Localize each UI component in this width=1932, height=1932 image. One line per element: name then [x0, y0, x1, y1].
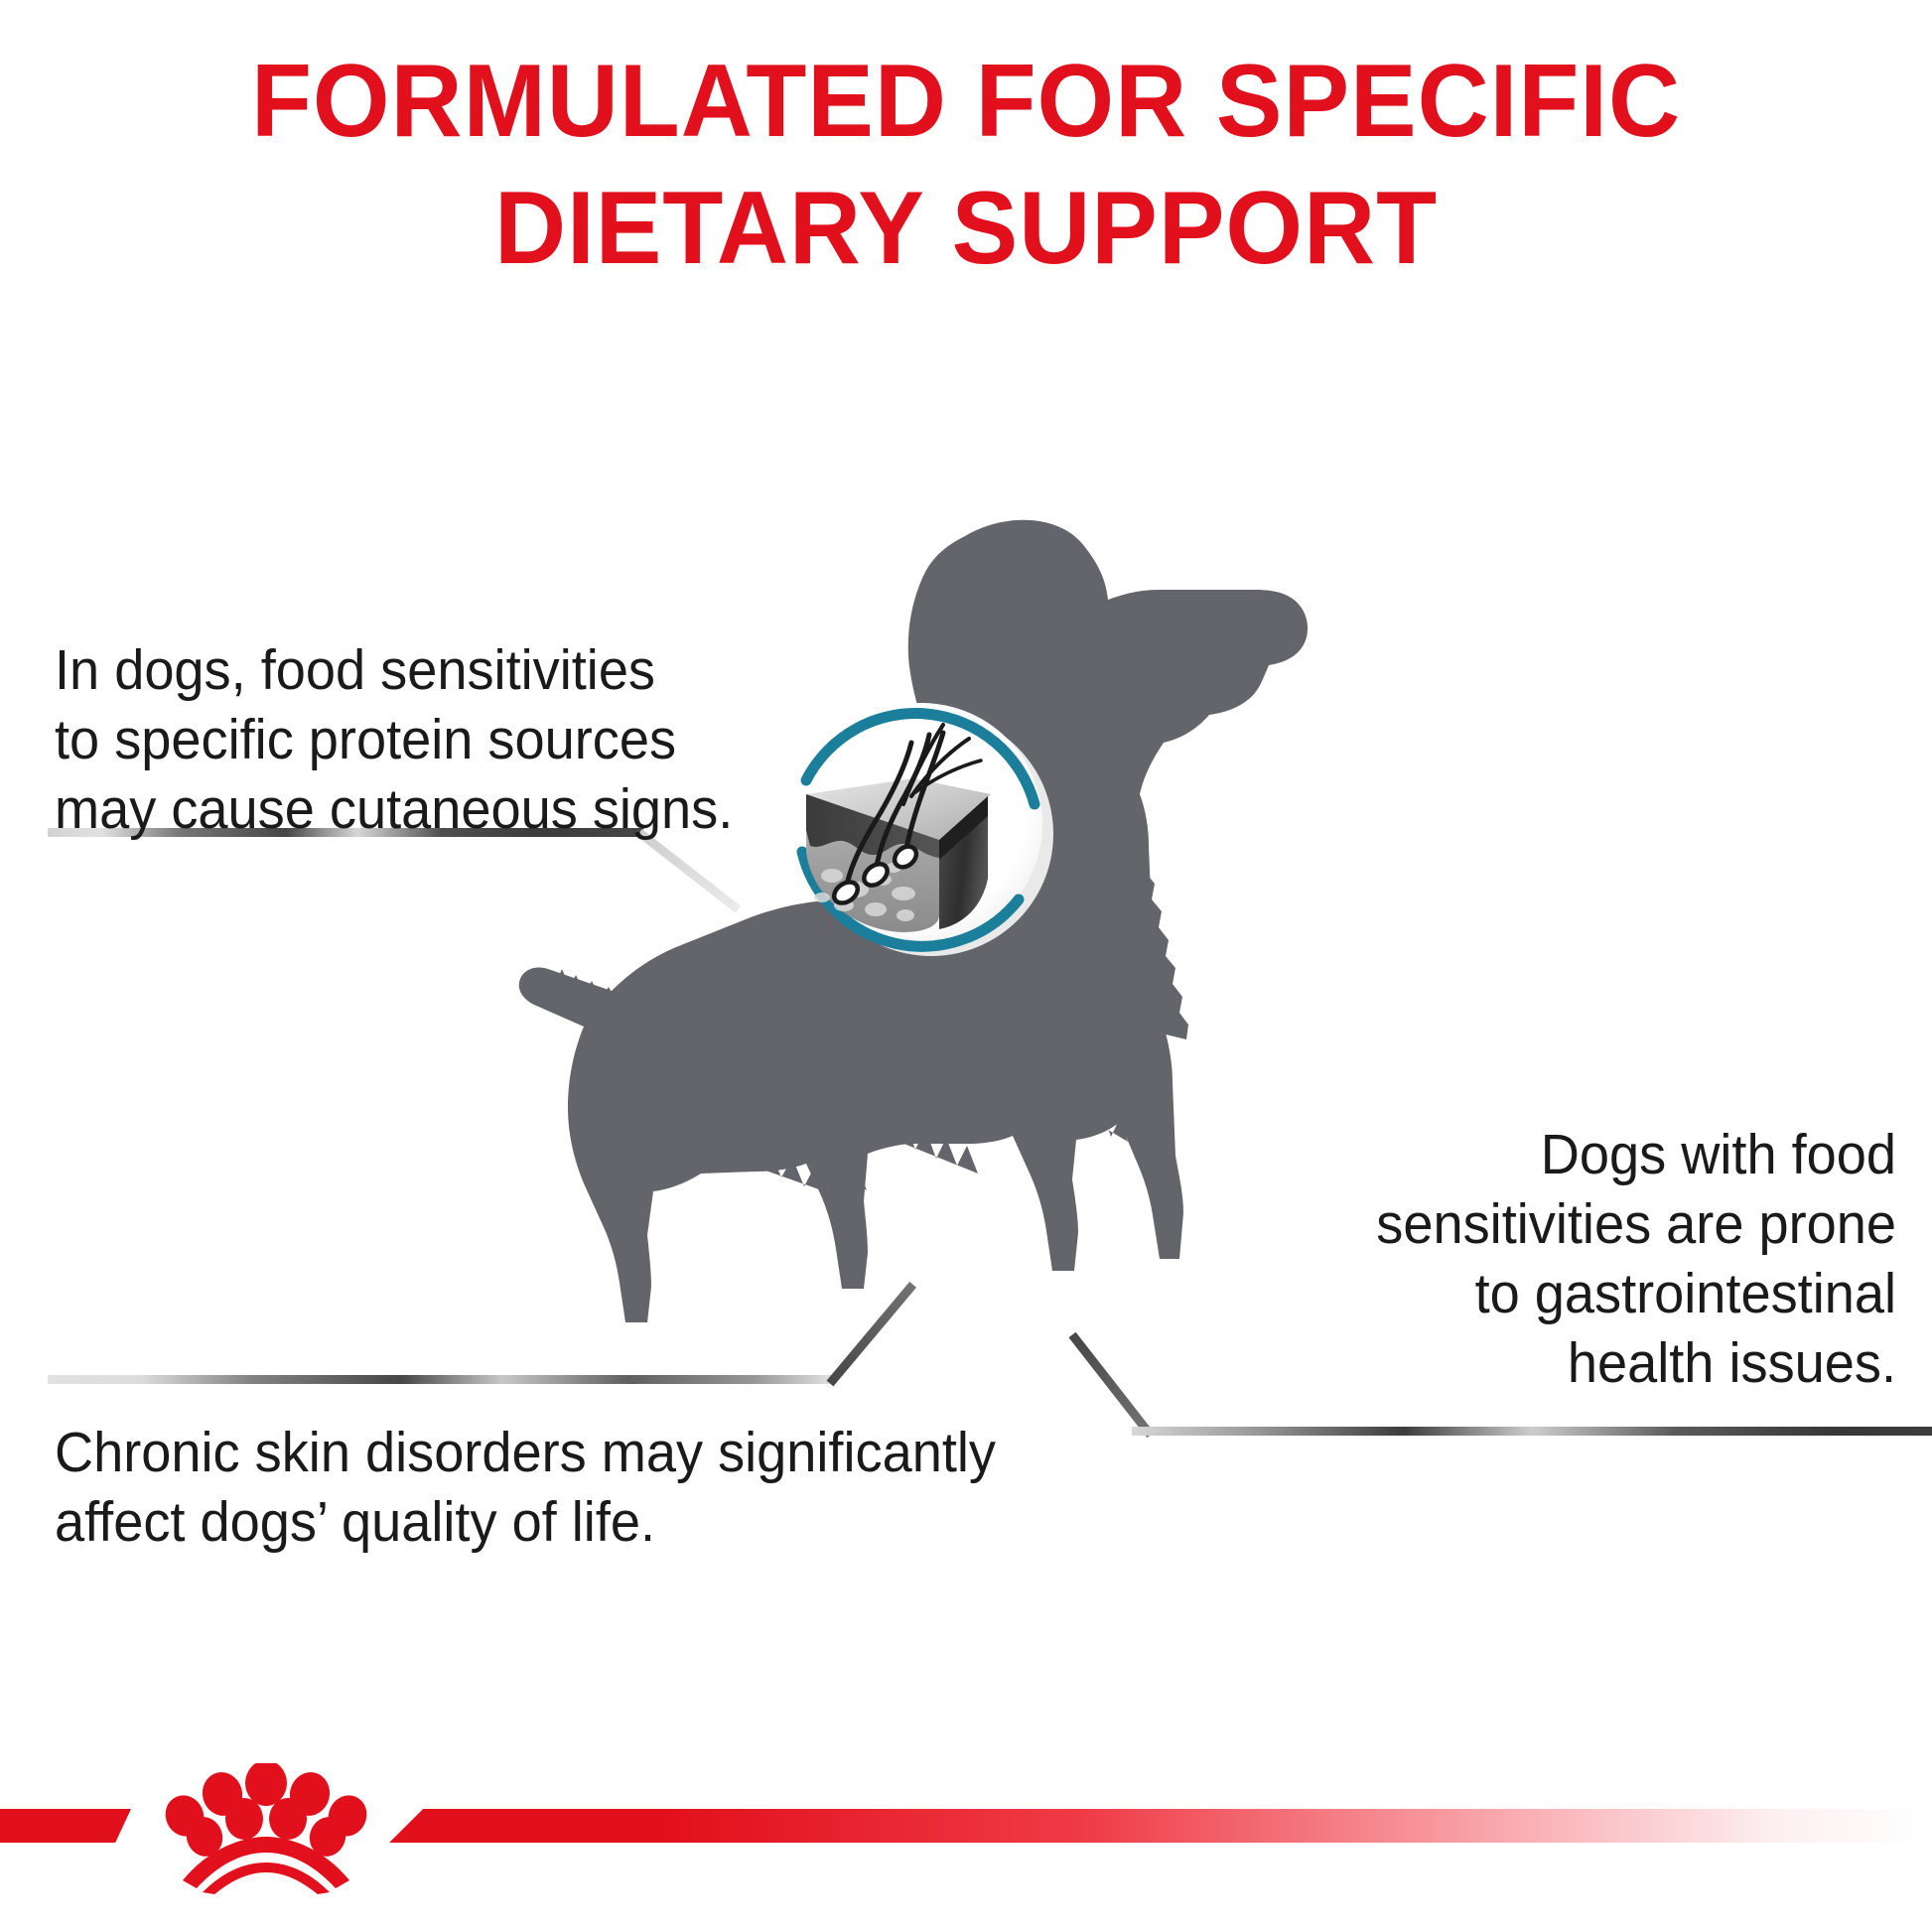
royal-canin-logo [147, 1763, 385, 1894]
callout-text-bottom-left: Chronic skin disorders may significantly… [55, 1418, 1008, 1557]
leader-line-bottomleft-horizontal [48, 1375, 832, 1384]
crown-paw-icon [159, 1763, 373, 1894]
callout-text-right: Dogs with food sensitivities are prone t… [1349, 1120, 1896, 1398]
red-rule-left [0, 1809, 131, 1843]
red-rule-right [389, 1809, 1932, 1843]
leader-line-right-horizontal [1132, 1427, 1932, 1436]
page-title-line-2: DIETARY SUPPORT [39, 165, 1893, 292]
page-title-line-1: FORMULATED FOR SPECIFIC [251, 44, 1681, 159]
page-title: FORMULATED FOR SPECIFIC DIETARY SUPPORT [39, 38, 1893, 292]
skin-cross-section-badge [755, 655, 1092, 1003]
poster-canvas: FORMULATED FOR SPECIFIC DIETARY SUPPORT [0, 0, 1932, 1932]
callout-text-top-left: In dogs, food sensitivities to specific … [55, 635, 734, 844]
